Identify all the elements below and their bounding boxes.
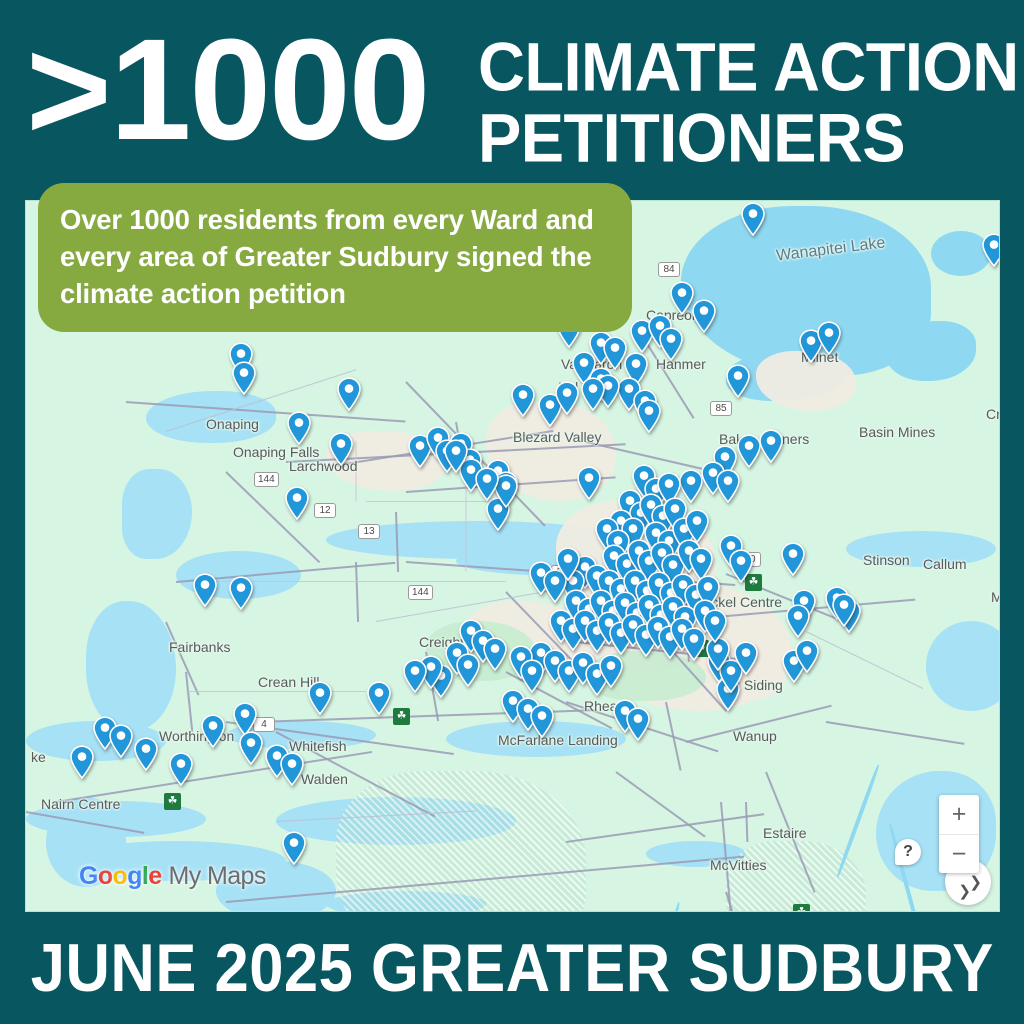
callout-text: Over 1000 residents from every Ward and … [60, 201, 612, 312]
petition-pin[interactable] [684, 509, 710, 543]
petition-pin[interactable] [455, 653, 481, 687]
petition-pin[interactable] [785, 604, 811, 638]
footer-banner: JUNE 2025 GREATER SUDBURY [0, 912, 1024, 1024]
petition-pin[interactable] [636, 399, 662, 433]
park-marker-icon: ☘ [164, 793, 181, 810]
petition-pin[interactable] [200, 714, 226, 748]
petition-pin[interactable] [482, 637, 508, 671]
google-my-maps-logo: G o o g l e My Maps [79, 862, 266, 891]
highway-shield: 144 [254, 472, 279, 487]
highway-shield: 13 [358, 524, 380, 539]
petition-pin[interactable] [228, 576, 254, 610]
my-maps-label: My Maps [169, 862, 266, 891]
chevron-right-icon: ❯ [969, 873, 982, 891]
petition-pin[interactable] [192, 573, 218, 607]
map-place-label: Callum [923, 556, 967, 572]
petition-pin[interactable] [625, 707, 651, 741]
zoom-out-button[interactable]: − [939, 834, 979, 873]
map-place-label: McFarlane Landing [498, 732, 618, 748]
river [655, 902, 681, 912]
petition-pin[interactable] [286, 411, 312, 445]
petition-pin[interactable] [336, 377, 362, 411]
map-place-label: Onaping [206, 416, 259, 432]
highway-shield: 85 [710, 401, 732, 416]
map-place-label: Estaire [763, 825, 807, 841]
river [836, 764, 881, 878]
map-place-label: Stinson [863, 552, 910, 568]
water-body [926, 621, 1000, 711]
road [566, 813, 764, 843]
headline-big-number: >1000 [26, 22, 428, 158]
petition-pin[interactable] [133, 737, 159, 771]
petition-pin[interactable] [780, 542, 806, 576]
google-logo-letter: g [127, 862, 142, 891]
petition-pin[interactable] [758, 429, 784, 463]
headline-block: >1000 CLIMATE ACTION PETITIONERS [0, 0, 1024, 180]
petition-pin[interactable] [474, 467, 500, 501]
petition-pin[interactable] [366, 681, 392, 715]
google-logo-letter: e [148, 862, 161, 891]
map-place-label: Blezard Valley [513, 429, 601, 445]
boundary [186, 691, 366, 692]
petition-pin[interactable] [554, 381, 580, 415]
petition-pin[interactable] [981, 233, 1000, 267]
highway-shield: 12 [314, 503, 336, 518]
petition-pin[interactable] [691, 299, 717, 333]
petition-pin[interactable] [69, 745, 95, 779]
highway-shield: 144 [408, 585, 433, 600]
petition-pin[interactable] [715, 469, 741, 503]
petition-pin[interactable] [658, 327, 684, 361]
road [806, 631, 923, 689]
reserve-area [336, 771, 586, 912]
petition-pin[interactable] [281, 831, 307, 865]
headline-line-1: CLIMATE ACTION [478, 34, 1024, 101]
petition-pin[interactable] [580, 377, 606, 411]
map-place-label: ke [31, 749, 46, 765]
map-place-label: Basin Mines [859, 424, 935, 440]
map-place-label: Fairbanks [169, 639, 230, 655]
map-place-label: Wanup [733, 728, 777, 744]
water-body [122, 469, 192, 559]
headline-right-block: CLIMATE ACTION PETITIONERS [478, 34, 1018, 162]
petition-pin[interactable] [529, 704, 555, 738]
petition-pin[interactable] [519, 659, 545, 693]
chevron-down-icon: ❯ [958, 882, 971, 900]
petition-pin[interactable] [816, 321, 842, 355]
park-marker-icon: ☘ [393, 708, 410, 725]
petition-pin[interactable] [598, 654, 624, 688]
petition-pin[interactable] [555, 547, 581, 581]
map-place-label: McVitties [710, 857, 767, 873]
petition-pin[interactable] [108, 724, 134, 758]
help-button[interactable]: ? [895, 839, 921, 865]
petition-pin[interactable] [328, 432, 354, 466]
petition-pin[interactable] [231, 361, 257, 395]
petition-pin[interactable] [576, 466, 602, 500]
zoom-in-button[interactable]: + [939, 795, 979, 834]
petition-pin[interactable] [168, 752, 194, 786]
infographic-poster: >1000 CLIMATE ACTION PETITIONERS [0, 0, 1024, 1024]
petition-pin[interactable] [702, 609, 728, 643]
boundary [366, 501, 486, 502]
petition-pin[interactable] [284, 486, 310, 520]
petition-pin[interactable] [794, 639, 820, 673]
map-place-label: Cr [986, 406, 1000, 422]
google-logo-letter: o [98, 862, 113, 891]
petition-pin[interactable] [279, 752, 305, 786]
road [745, 802, 748, 842]
footer-text: JUNE 2025 GREATER SUDBURY [30, 929, 993, 1007]
petition-pin[interactable] [307, 681, 333, 715]
petition-pin[interactable] [728, 549, 754, 583]
map-place-label: Nairn Centre [41, 796, 120, 812]
petition-pin[interactable] [831, 593, 857, 627]
callout-box: Over 1000 residents from every Ward and … [38, 183, 632, 332]
headline-line-2: PETITIONERS [478, 105, 1024, 172]
water-body [86, 601, 176, 731]
google-logo-letter: o [113, 862, 128, 891]
park-marker-icon: ☘ [793, 904, 810, 912]
petition-pin[interactable] [733, 641, 759, 675]
road [826, 721, 965, 745]
highway-shield: 84 [658, 262, 680, 277]
map-place-label: Walden [301, 771, 348, 787]
petition-pin[interactable] [402, 659, 428, 693]
petition-pin[interactable] [238, 731, 264, 765]
petition-pin[interactable] [740, 202, 766, 236]
map-place-label: Ma [991, 589, 1000, 605]
zoom-controls[interactable]: + − [939, 795, 979, 873]
petition-pin[interactable] [725, 364, 751, 398]
petition-pin[interactable] [510, 383, 536, 417]
google-logo-letter: G [79, 862, 98, 891]
petition-pin[interactable] [443, 439, 469, 473]
road [355, 562, 359, 622]
